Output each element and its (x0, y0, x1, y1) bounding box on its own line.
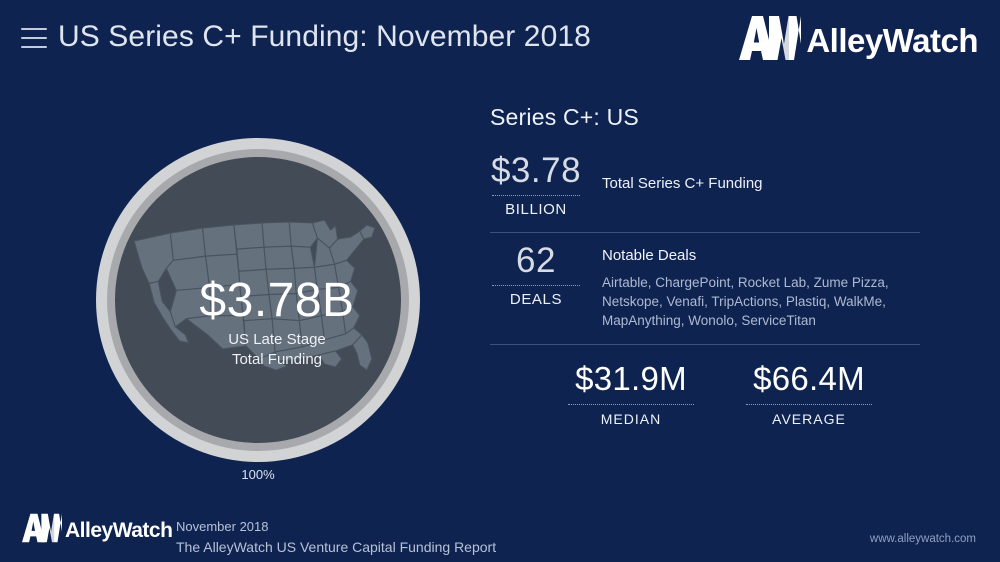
average-number: $66.4M (734, 361, 884, 397)
hamburger-icon[interactable] (21, 28, 47, 48)
notable-deals-heading: Notable Deals (602, 247, 914, 264)
average-cell: $66.4M AVERAGE (734, 361, 884, 426)
panel-title: Series C+: US (490, 104, 920, 131)
median-number: $31.9M (556, 361, 706, 397)
donut-center-text: $3.78B US Late Stage Total Funding (134, 176, 401, 443)
total-funding-number: $3.78 (490, 153, 582, 190)
donut-subtitle-line1: US Late Stage (228, 330, 326, 350)
total-funding-key: $3.78 BILLION (490, 153, 582, 218)
dotted-divider (492, 195, 580, 196)
median-cell: $31.9M MEDIAN (556, 361, 706, 426)
footer: AlleyWatch November 2018 The AlleyWatch … (0, 500, 1000, 562)
deals-description: Notable Deals Airtable, ChargePoint, Roc… (582, 243, 914, 330)
donut-value: $3.78B (199, 276, 354, 326)
median-average-row: $31.9M MEDIAN $66.4M AVERAGE (490, 361, 920, 426)
hamburger-line (21, 28, 47, 30)
deals-unit: DEALS (490, 291, 582, 308)
alleywatch-wordmark: AlleyWatch (65, 519, 172, 543)
alleywatch-logo-header[interactable]: AlleyWatch (739, 14, 978, 67)
alleywatch-wordmark: AlleyWatch (806, 22, 978, 60)
total-funding-label: Total Series C+ Funding (582, 153, 763, 192)
aw-monogram-icon (22, 512, 62, 549)
donut-disk: $3.78B US Late Stage Total Funding (115, 157, 401, 443)
footer-url[interactable]: www.alleywatch.com (870, 533, 976, 545)
stats-panel: Series C+: US $3.78 BILLION Total Series… (490, 104, 920, 427)
dotted-divider (568, 404, 694, 405)
section-divider (490, 232, 920, 233)
dotted-divider (492, 285, 580, 286)
page-title: US Series C+ Funding: November 2018 (58, 20, 591, 54)
average-label: AVERAGE (734, 411, 884, 427)
hamburger-line (21, 37, 47, 39)
deals-number: 62 (490, 243, 582, 280)
notable-deals-list: Airtable, ChargePoint, Rocket Lab, Zume … (602, 273, 914, 330)
dotted-divider (746, 404, 872, 405)
deals-key: 62 DEALS (490, 243, 582, 308)
infographic-slide: US Series C+ Funding: November 2018 Alle… (0, 0, 1000, 562)
total-funding-unit: BILLION (490, 201, 582, 218)
footer-report-title: The AlleyWatch US Venture Capital Fundin… (176, 537, 496, 557)
donut-subtitle-line2: Total Funding (228, 350, 326, 370)
aw-monogram-icon (739, 14, 801, 67)
funding-donut-chart: $3.78B US Late Stage Total Funding 100% (96, 138, 420, 468)
hamburger-line (21, 46, 47, 48)
footer-text: November 2018 The AlleyWatch US Venture … (176, 518, 496, 557)
total-funding-row: $3.78 BILLION Total Series C+ Funding (490, 153, 920, 218)
donut-percent-label: 100% (96, 467, 420, 482)
notable-deals-row: 62 DEALS Notable Deals Airtable, ChargeP… (490, 243, 920, 330)
donut-subtitle: US Late Stage Total Funding (228, 330, 326, 371)
median-label: MEDIAN (556, 411, 706, 427)
header: US Series C+ Funding: November 2018 Alle… (0, 0, 1000, 95)
alleywatch-logo-footer[interactable]: AlleyWatch (22, 512, 172, 549)
section-divider (490, 344, 920, 345)
footer-month: November 2018 (176, 518, 496, 537)
